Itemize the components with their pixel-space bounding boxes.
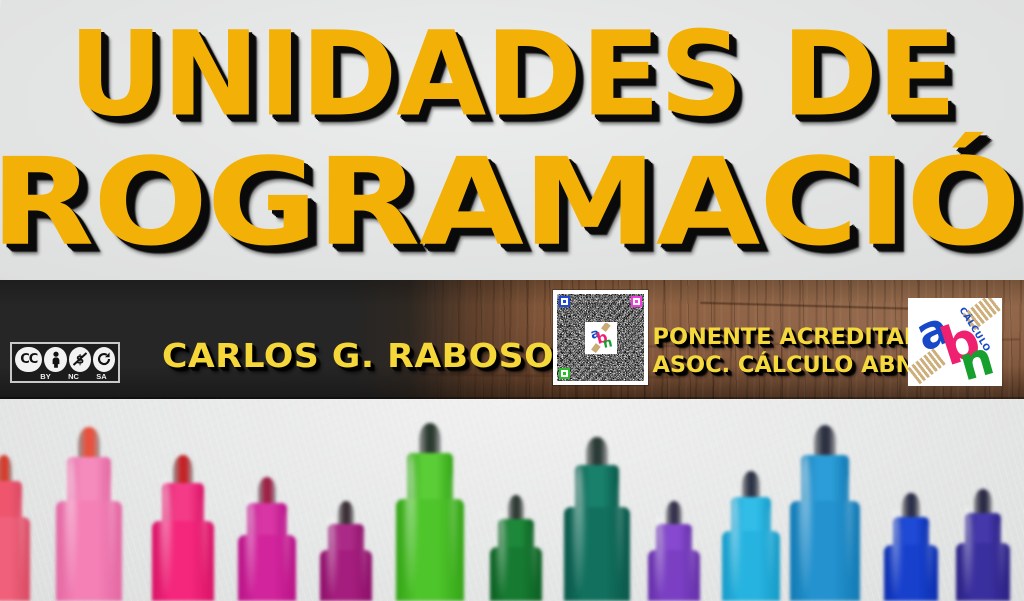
marker-cyan xyxy=(722,467,780,601)
cc-license-badge[interactable]: CC $ BY NC xyxy=(10,342,120,383)
title-text-2: PROGRAMACIÓN xyxy=(0,142,1024,263)
marker-highlight xyxy=(999,520,1004,592)
slide-root: UNIDADES DE PROGRAMACIÓN CC $ xyxy=(0,0,1024,601)
no-money-glyph: $ xyxy=(71,350,89,368)
marker-highlight xyxy=(160,478,171,595)
marker-red-partial xyxy=(0,451,30,601)
accreditation-line-2: ASOC. CÁLCULO ABN xyxy=(653,352,908,380)
page-title-line-1: UNIDADES DE xyxy=(0,16,1024,132)
marker-green-dark xyxy=(490,491,542,601)
marker-tip xyxy=(814,425,836,459)
qr-matrix: a b n xyxy=(557,294,644,381)
qr-finder-top-right xyxy=(631,296,642,307)
marker-purple-dark xyxy=(320,497,372,601)
qr-finder-top-left xyxy=(559,296,570,307)
marker-blue xyxy=(884,489,938,601)
abn-logo[interactable]: a b n CÁLCULO xyxy=(908,298,1002,386)
share-alike-glyph xyxy=(96,351,112,367)
marker-indigo xyxy=(956,485,1010,601)
marker-highlight xyxy=(202,496,208,589)
qr-code[interactable]: a b n xyxy=(553,290,648,385)
marker-pens-photo xyxy=(0,399,1024,601)
marker-highlight xyxy=(497,511,506,597)
accreditation-text: PONENTE ACREDITADO ASOC. CÁLCULO ABN xyxy=(653,324,908,380)
marker-highlight xyxy=(362,528,367,592)
title-text-1: UNIDADES DE xyxy=(69,16,956,132)
marker-teal xyxy=(564,433,630,601)
author-name: CARLOS G. RABOSO xyxy=(169,330,547,380)
marker-pink-hot xyxy=(152,451,214,601)
cc-icon: CC xyxy=(15,347,42,372)
marker-highlight xyxy=(799,453,811,593)
cc-mark: CC xyxy=(20,353,37,366)
qr-center-abn-logo: a b n xyxy=(585,322,617,354)
title-area: UNIDADES DE PROGRAMACIÓN xyxy=(0,0,1024,281)
cc-term-nc: NC xyxy=(61,372,86,381)
cc-term-sa: SA xyxy=(89,372,114,381)
marker-highlight xyxy=(327,516,336,597)
cc-term-by: BY xyxy=(33,372,58,381)
marker-barrel xyxy=(0,517,30,601)
abn-logo-small: a b n xyxy=(586,323,616,353)
marker-highlight xyxy=(655,516,664,597)
page-title-line-2: PROGRAMACIÓN xyxy=(0,142,1024,263)
marker-pink-light xyxy=(56,423,122,601)
marker-green-bright xyxy=(396,419,464,601)
marker-tip xyxy=(419,423,441,457)
marker-violet xyxy=(648,497,700,601)
person-glyph xyxy=(49,351,63,368)
cc-icon-row: CC $ xyxy=(15,346,115,372)
cc-terms-row: BY NC SA xyxy=(15,372,115,381)
marker-highlight xyxy=(573,463,584,594)
qr-finder-bottom-left xyxy=(559,368,570,379)
marker-magenta xyxy=(238,473,296,601)
marker-highlight xyxy=(532,524,537,592)
nc-nocommercial-icon: $ xyxy=(69,347,91,372)
marker-highlight xyxy=(20,496,25,589)
marker-highlight xyxy=(846,475,853,587)
by-person-icon xyxy=(44,347,66,372)
marker-highlight xyxy=(690,528,695,592)
marker-highlight xyxy=(927,523,932,592)
sa-sharealike-icon xyxy=(93,347,115,372)
marker-highlight xyxy=(65,455,76,594)
marker-blue-light xyxy=(790,421,860,601)
marker-tip xyxy=(78,427,99,461)
accreditation-line-1: PONENTE ACREDITADO xyxy=(653,324,908,352)
